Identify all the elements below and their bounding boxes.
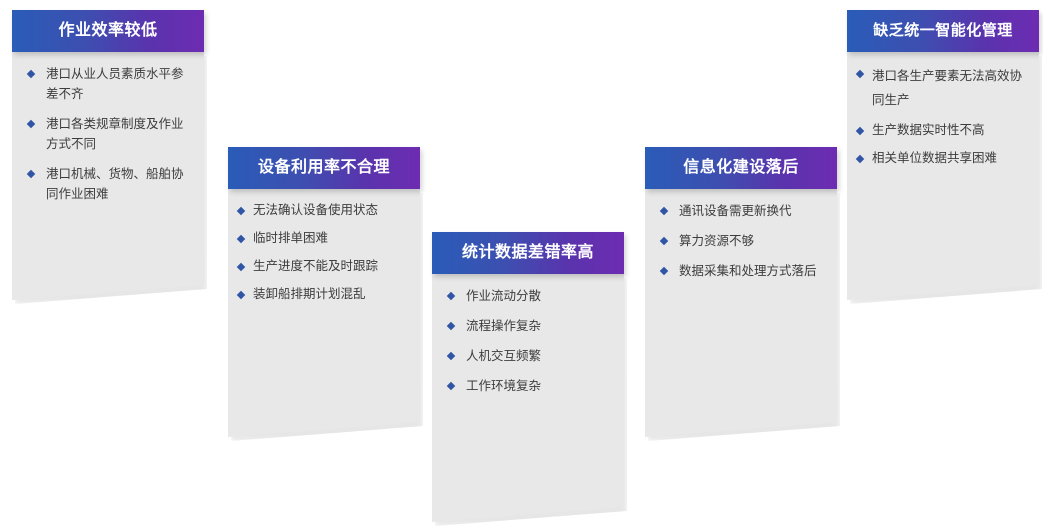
diamond-bullet-icon (447, 352, 455, 360)
list-item: 算力资源不够 (655, 231, 827, 251)
list-item: 工作环境复杂 (442, 376, 614, 396)
card-low-operating-efficiency[interactable]: 作业效率较低 港口从业人员素质水平参差不齐 港口各类规章制度及作业方式不同 港口… (12, 10, 204, 300)
card-lagging-informatization[interactable]: 信息化建设落后 通讯设备需更新换代 算力资源不够 数据采集和处理方式落后 (645, 147, 837, 437)
diamond-bullet-icon (237, 263, 245, 271)
list-item-text: 无法确认设备使用状态 (253, 203, 378, 217)
card-unreasonable-equipment-utilization[interactable]: 设备利用率不合理 无法确认设备使用状态 临时排单困难 生产进度不能及时跟踪 装卸… (228, 147, 420, 437)
list-item: 相关单位数据共享困难 (857, 149, 1029, 168)
card-body-low-operating-efficiency: 港口从业人员素质水平参差不齐 港口各类规章制度及作业方式不同 港口机械、货物、船… (12, 52, 204, 300)
bullet-list: 港口各生产要素无法高效协同生产 生产数据实时性不高 相关单位数据共享困难 (857, 64, 1029, 168)
list-item-text: 作业流动分散 (466, 289, 541, 303)
bullet-list: 通讯设备需更新换代 算力资源不够 数据采集和处理方式落后 (655, 201, 827, 281)
card-body-lack-of-unified-intelligent-management: 港口各生产要素无法高效协同生产 生产数据实时性不高 相关单位数据共享困难 (847, 52, 1039, 300)
list-item-text: 相关单位数据共享困难 (872, 151, 997, 165)
list-item-text: 装卸船排期计划混乱 (253, 287, 366, 301)
diamond-bullet-icon (27, 120, 35, 128)
list-item-text: 数据采集和处理方式落后 (679, 264, 817, 278)
diamond-bullet-icon (237, 291, 245, 299)
diamond-bullet-icon (237, 207, 245, 215)
list-item: 流程操作复杂 (442, 316, 614, 336)
list-item: 生产进度不能及时跟踪 (238, 257, 410, 276)
card-lack-of-unified-intelligent-management[interactable]: 缺乏统一智能化管理 港口各生产要素无法高效协同生产 生产数据实时性不高 相关单位… (847, 10, 1039, 300)
card-body-lagging-informatization: 通讯设备需更新换代 算力资源不够 数据采集和处理方式落后 (645, 189, 837, 437)
card-body-high-statistical-error-rate: 作业流动分散 流程操作复杂 人机交互频繁 工作环境复杂 (432, 274, 624, 522)
card-header-lagging-informatization: 信息化建设落后 (645, 147, 837, 189)
card-header-lack-of-unified-intelligent-management: 缺乏统一智能化管理 (847, 10, 1039, 52)
diamond-bullet-icon (856, 70, 864, 78)
list-item-text: 港口各类规章制度及作业方式不同 (46, 117, 184, 151)
list-item: 装卸船排期计划混乱 (238, 285, 410, 304)
list-item-text: 工作环境复杂 (466, 379, 541, 393)
list-item: 生产数据实时性不高 (857, 121, 1029, 140)
bullet-list: 港口从业人员素质水平参差不齐 港口各类规章制度及作业方式不同 港口机械、货物、船… (22, 64, 194, 204)
diamond-bullet-icon (447, 382, 455, 390)
list-item-text: 港口各生产要素无法高效协同生产 (872, 69, 1022, 107)
infographic-board: 作业效率较低 港口从业人员素质水平参差不齐 港口各类规章制度及作业方式不同 港口… (0, 0, 1043, 529)
list-item: 数据采集和处理方式落后 (655, 261, 827, 281)
list-item: 人机交互频繁 (442, 346, 614, 366)
card-header-low-operating-efficiency: 作业效率较低 (12, 10, 204, 52)
diamond-bullet-icon (27, 170, 35, 178)
list-item: 港口各生产要素无法高效协同生产 (857, 64, 1029, 112)
diamond-bullet-icon (237, 235, 245, 243)
diamond-bullet-icon (660, 267, 668, 275)
list-item: 临时排单困难 (238, 229, 410, 248)
bullet-list: 无法确认设备使用状态 临时排单困难 生产进度不能及时跟踪 装卸船排期计划混乱 (238, 201, 410, 304)
card-header-high-statistical-error-rate: 统计数据差错率高 (432, 232, 624, 274)
list-item-text: 通讯设备需更新换代 (679, 204, 792, 218)
diamond-bullet-icon (660, 237, 668, 245)
list-item: 港口各类规章制度及作业方式不同 (22, 114, 194, 154)
list-item-text: 流程操作复杂 (466, 319, 541, 333)
list-item-text: 生产进度不能及时跟踪 (253, 259, 378, 273)
card-body-unreasonable-equipment-utilization: 无法确认设备使用状态 临时排单困难 生产进度不能及时跟踪 装卸船排期计划混乱 (228, 189, 420, 437)
diamond-bullet-icon (447, 292, 455, 300)
diamond-bullet-icon (447, 322, 455, 330)
list-item-text: 临时排单困难 (253, 231, 328, 245)
diamond-bullet-icon (856, 155, 864, 163)
list-item: 港口机械、货物、船舶协同作业困难 (22, 164, 194, 204)
list-item: 通讯设备需更新换代 (655, 201, 827, 221)
list-item: 无法确认设备使用状态 (238, 201, 410, 220)
card-high-statistical-error-rate[interactable]: 统计数据差错率高 作业流动分散 流程操作复杂 人机交互频繁 工作环境复杂 (432, 232, 624, 522)
list-item: 作业流动分散 (442, 286, 614, 306)
diamond-bullet-icon (27, 70, 35, 78)
list-item-text: 算力资源不够 (679, 234, 754, 248)
list-item-text: 港口从业人员素质水平参差不齐 (46, 67, 184, 101)
list-item-text: 人机交互频繁 (466, 349, 541, 363)
list-item: 港口从业人员素质水平参差不齐 (22, 64, 194, 104)
list-item-text: 港口机械、货物、船舶协同作业困难 (46, 167, 184, 201)
diamond-bullet-icon (856, 127, 864, 135)
card-header-unreasonable-equipment-utilization: 设备利用率不合理 (228, 147, 420, 189)
bullet-list: 作业流动分散 流程操作复杂 人机交互频繁 工作环境复杂 (442, 286, 614, 396)
list-item-text: 生产数据实时性不高 (872, 123, 985, 137)
diamond-bullet-icon (660, 207, 668, 215)
